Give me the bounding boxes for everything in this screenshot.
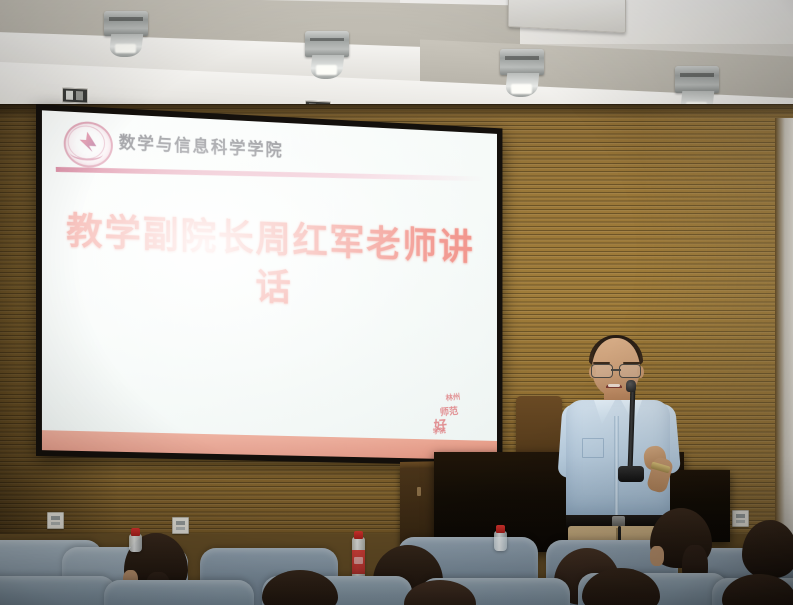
microphone-transmitter (618, 466, 644, 482)
water-bottle-right (494, 531, 507, 551)
wall-outlet-left (47, 512, 64, 529)
slide-body: 教学副院长周红军老师讲话 (42, 206, 497, 319)
wall-right-corner (775, 118, 793, 538)
track-spotlight-1 (104, 11, 148, 55)
glasses-icon (590, 364, 642, 377)
stamp-line-1: 林州 (445, 391, 461, 403)
presenter-shirt-pocket (582, 438, 604, 458)
recessed-ceiling-light-1 (62, 87, 88, 103)
projection-screen: 数学与信息科学学院 教学副院长周红军老师讲话 林州 师范 好 学院 (36, 104, 502, 466)
stamp-line-4: 学院 (432, 426, 446, 437)
track-spotlight-3 (500, 49, 544, 96)
college-seal-logo-icon (64, 120, 109, 164)
lectern-side-panel (400, 468, 436, 546)
slide-stamp-seal: 林州 师范 好 学院 (428, 389, 484, 436)
slide-surface: 数学与信息科学学院 教学副院长周红军老师讲话 林州 师范 好 学院 (42, 110, 497, 460)
seat-front-1 (0, 576, 116, 605)
wall-outlet-center (172, 517, 189, 534)
slide-main-title: 教学副院长周红军老师讲话 (66, 207, 475, 319)
wall-outlet-right-b (732, 510, 749, 527)
track-spotlight-2 (305, 31, 349, 77)
audience-neck-4 (650, 546, 664, 566)
slide-footer-band (42, 430, 497, 460)
slide-header-title: 数学与信息科学学院 (119, 128, 284, 161)
water-bottle-center (352, 537, 365, 581)
audience-head-5 (742, 520, 793, 578)
water-bottle-left (129, 534, 142, 552)
microphone-capsule (626, 380, 636, 392)
slide-header-rule (56, 167, 484, 181)
lectern-knob (417, 487, 421, 496)
lecture-hall-photo: 数学与信息科学学院 教学副院长周红军老师讲话 林州 师范 好 学院 (0, 0, 793, 605)
seat-front-2 (104, 580, 254, 605)
